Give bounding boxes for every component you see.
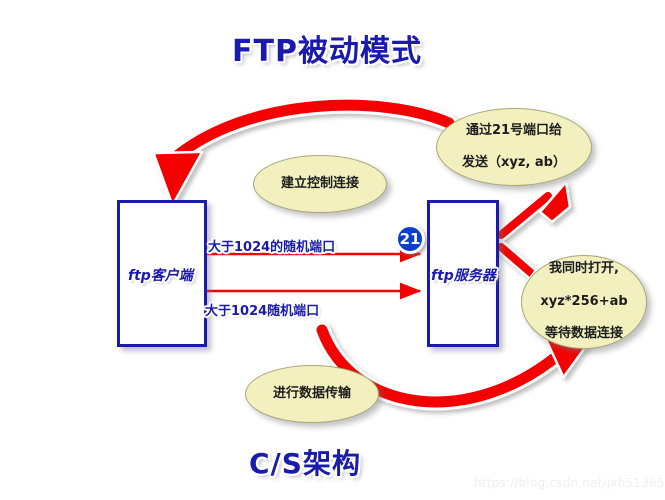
bubble-open-data-port: 我同时打开, xyz*256+ab 等待数据连接: [521, 255, 647, 349]
diagram-canvas: FTP被动模式 C/S架构 ftp客户端 ftp服务器 21 大于1024的随机…: [0, 0, 665, 500]
bubble-open-text: 我同时打开, xyz*256+ab 等待数据连接: [528, 261, 639, 342]
watermark-url: https://blog.csdn.net/jxb513651608: [474, 476, 665, 490]
bubble-control-connection: 建立控制连接: [253, 155, 387, 213]
bubble-port21-send: 通过21号端口给 发送（xyz, ab）: [436, 108, 592, 186]
data-port-label: 大于1024随机端口: [205, 300, 319, 319]
bubble-port21-line2: 发送（xyz, ab）: [456, 155, 572, 171]
bubble-open-line1: 我同时打开,: [534, 261, 633, 277]
arrow-up-right-icon: [501, 182, 570, 235]
control-port-label: 大于1024的随机端口: [208, 236, 335, 255]
bubble-open-line3: 等待数据连接: [534, 326, 633, 342]
ftp-client-label: ftp客户端: [128, 265, 193, 285]
bubble-data-transfer: 进行数据传输: [245, 365, 379, 423]
ftp-server-label: ftp服务器: [431, 265, 496, 285]
port-21-badge: 21: [395, 224, 425, 254]
bubble-control-text: 建立控制连接: [275, 176, 365, 192]
bubble-open-line2: xyz*256+ab: [534, 294, 633, 310]
subtitle-architecture: C/S架构: [249, 442, 361, 482]
page-title: FTP被动模式: [232, 26, 422, 70]
bubble-data-text: 进行数据传输: [267, 386, 357, 402]
bubble-port21-line1: 通过21号端口给: [456, 123, 572, 139]
bubble-port21-text: 通过21号端口给 发送（xyz, ab）: [450, 123, 578, 172]
